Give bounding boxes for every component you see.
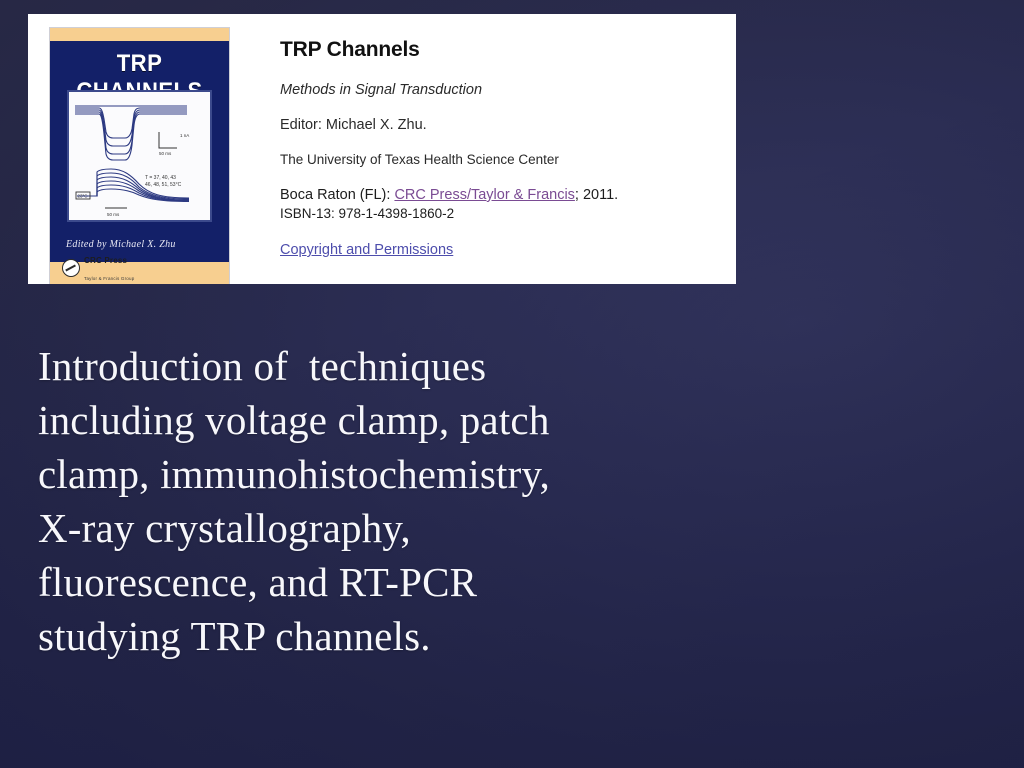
svg-text:50 ms: 50 ms [107,212,120,217]
book-cover-image: TRP CHANNELS 1 nA 5 [50,28,229,284]
body-line: clamp, immunohistochemistry, [38,447,738,501]
citation-isbn: ISBN-13: 978-1-4398-1860-2 [280,206,720,221]
citation-publisher-prefix: Boca Raton (FL): [280,187,394,203]
svg-text:46, 48, 51, 53°C: 46, 48, 51, 53°C [145,182,182,188]
body-line: X-ray crystallography, [38,501,738,555]
body-line: Introduction of techniques [38,339,738,393]
citation-block: TRP Channels Methods in Signal Transduct… [280,38,720,259]
slide-canvas: TRP CHANNELS 1 nA 5 [0,0,1024,768]
electrophysiology-traces-svg: 1 nA 50 ms T = 37, 40, 43 46, 48, 51, 53… [69,92,210,220]
slide-body-text: Introduction of techniques including vol… [38,339,738,663]
publisher-link[interactable]: CRC Press/Taylor & Francis [394,187,574,203]
crc-press-name: CRC Press [84,256,127,265]
book-citation-screenshot: TRP CHANNELS 1 nA 5 [28,14,736,284]
svg-text:23°C: 23°C [78,194,89,199]
svg-text:50 ms: 50 ms [159,151,172,156]
cover-inset-figure: 1 nA 50 ms T = 37, 40, 43 46, 48, 51, 53… [67,90,212,222]
body-line: fluorescence, and RT-PCR [38,555,738,609]
cover-editor-credit: Edited by Michael X. Zhu [66,239,176,250]
citation-affiliation: The University of Texas Health Science C… [280,152,720,167]
cover-top-gold-band [50,28,229,41]
citation-publisher-suffix: ; 2011. [575,187,618,203]
citation-editor: Editor: Michael X. Zhu. [280,117,720,133]
body-line: studying TRP channels. [38,609,738,663]
crc-press-logo: CRC Press Taylor & Francis Group [62,251,134,284]
citation-series: Methods in Signal Transduction [280,82,720,98]
copyright-permissions-link[interactable]: Copyright and Permissions [280,242,453,258]
svg-text:1 nA: 1 nA [180,133,189,138]
crc-press-logo-text: CRC Press Taylor & Francis Group [84,251,134,284]
svg-text:T = 37, 40, 43: T = 37, 40, 43 [145,175,176,181]
citation-title: TRP Channels [280,38,720,62]
citation-publisher-line: Boca Raton (FL): CRC Press/Taylor & Fran… [280,187,720,203]
crc-press-group: Taylor & Francis Group [84,276,134,281]
crc-press-emblem-icon [62,259,80,277]
body-line: including voltage clamp, patch [38,393,738,447]
